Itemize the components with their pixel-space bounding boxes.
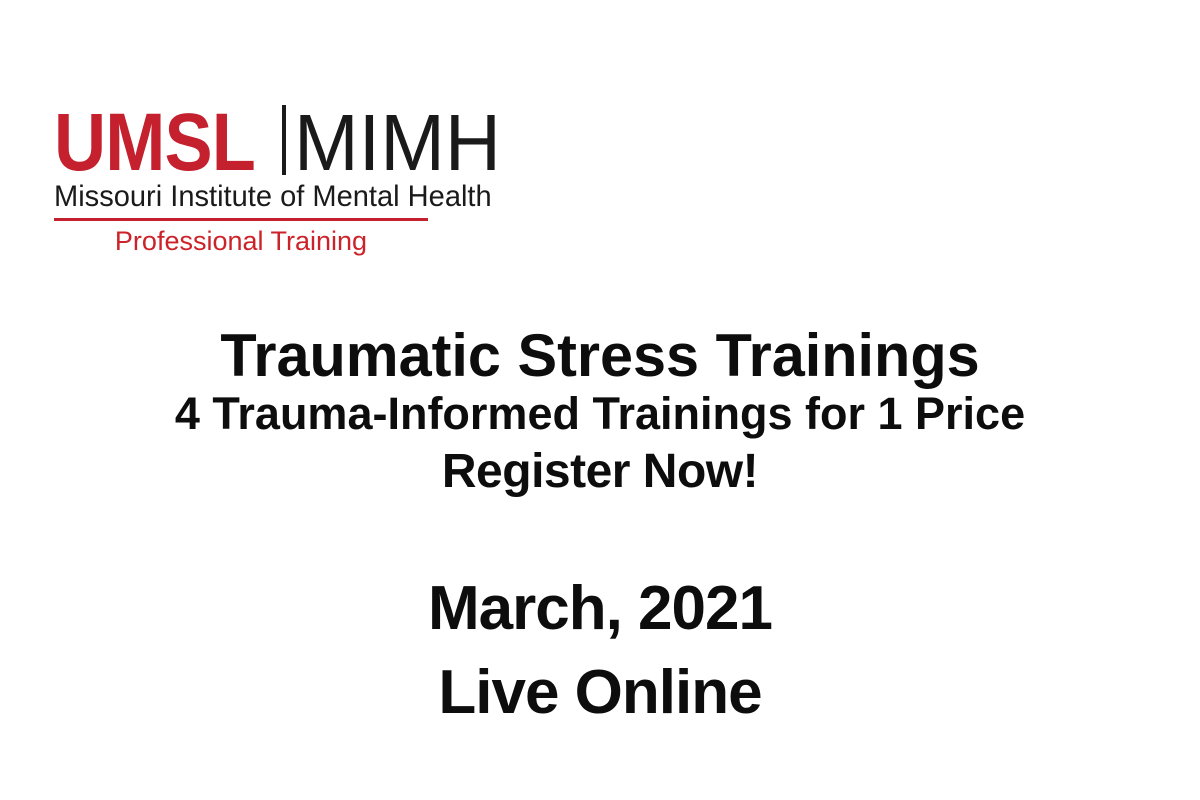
page-title: Traumatic Stress Trainings bbox=[6, 326, 1194, 386]
logo-tagline: Professional Training bbox=[54, 227, 428, 257]
logo-divider-rule bbox=[54, 218, 428, 221]
headline-block: Traumatic Stress Trainings 4 Trauma-Info… bbox=[0, 326, 1200, 496]
page-subtitle: 4 Trauma-Informed Trainings for 1 Price bbox=[0, 391, 1200, 436]
logo-umsl-text: UMSL bbox=[54, 109, 255, 178]
event-date: March, 2021 bbox=[0, 578, 1200, 640]
umsl-mimh-logo: UMSL MIMH Missouri Institute of Mental H… bbox=[54, 100, 432, 257]
logo-wordmark: UMSL MIMH bbox=[54, 100, 432, 178]
register-now-callout[interactable]: Register Now! bbox=[0, 448, 1200, 496]
logo-institute-name: Missouri Institute of Mental Health bbox=[54, 181, 426, 212]
flyer-slide: UMSL MIMH Missouri Institute of Mental H… bbox=[0, 0, 1200, 800]
logo-vertical-bar-icon bbox=[282, 105, 286, 175]
logo-mimh-text: MIMH bbox=[294, 109, 501, 178]
event-format: Live Online bbox=[0, 662, 1200, 724]
event-details-block: March, 2021 Live Online bbox=[0, 578, 1200, 724]
